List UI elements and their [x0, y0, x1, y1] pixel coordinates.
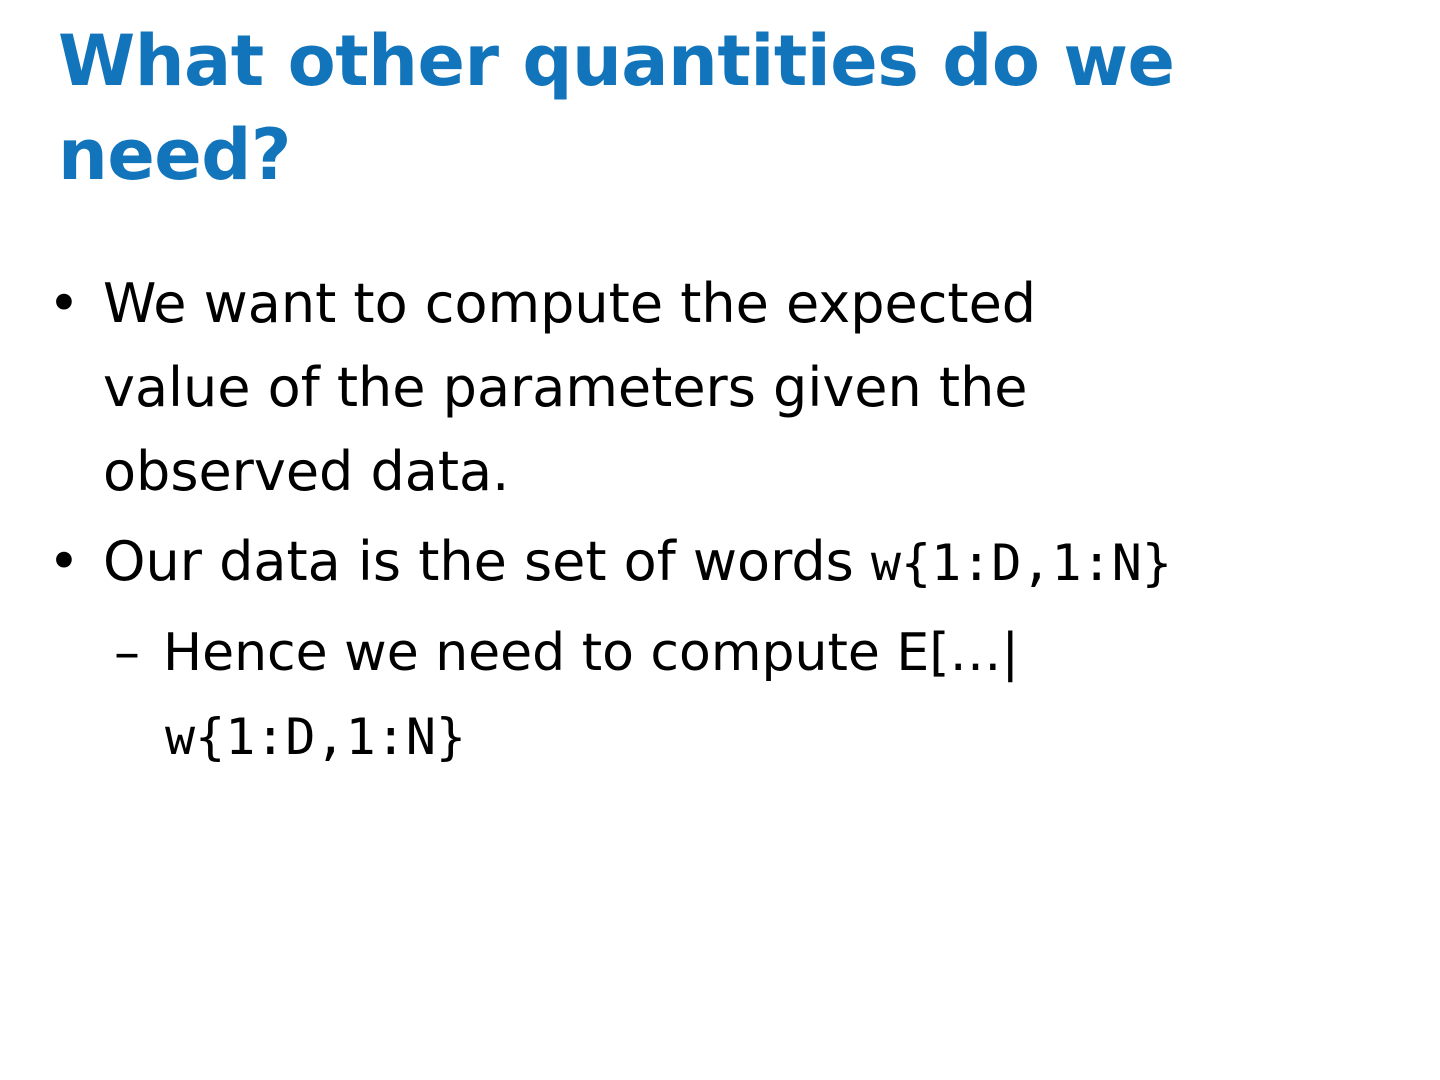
slide-body: • We want to compute the expected value …: [0, 262, 1340, 779]
slide: What other quantities do we need? • We w…: [0, 0, 1440, 1080]
sub-bullet-item: – Hence we need to compute E[…| w{1:D,1:…: [0, 611, 1340, 779]
slide-title: What other quantities do we need?: [58, 14, 1378, 202]
bullet-item: • We want to compute the expected value …: [0, 262, 1180, 514]
bullet-marker-icon: •: [48, 520, 80, 604]
sub-bullet-text-lead: Hence we need to compute E[…|: [163, 611, 1340, 695]
bullet-text-code: w{1:D,1:N}: [871, 534, 1172, 592]
bullet-text: We want to compute the expected value of…: [103, 262, 1180, 514]
bullet-marker-icon: •: [48, 262, 80, 346]
sub-bullet-text-code: w{1:D,1:N}: [163, 695, 1340, 779]
bullet-item: • Our data is the set of words w{1:D,1:N…: [0, 520, 1180, 605]
bullet-text: Our data is the set of words w{1:D,1:N}: [103, 520, 1180, 605]
bullet-text-lead: Our data is the set of words: [103, 530, 871, 593]
sub-bullet-marker-icon: –: [114, 611, 140, 695]
